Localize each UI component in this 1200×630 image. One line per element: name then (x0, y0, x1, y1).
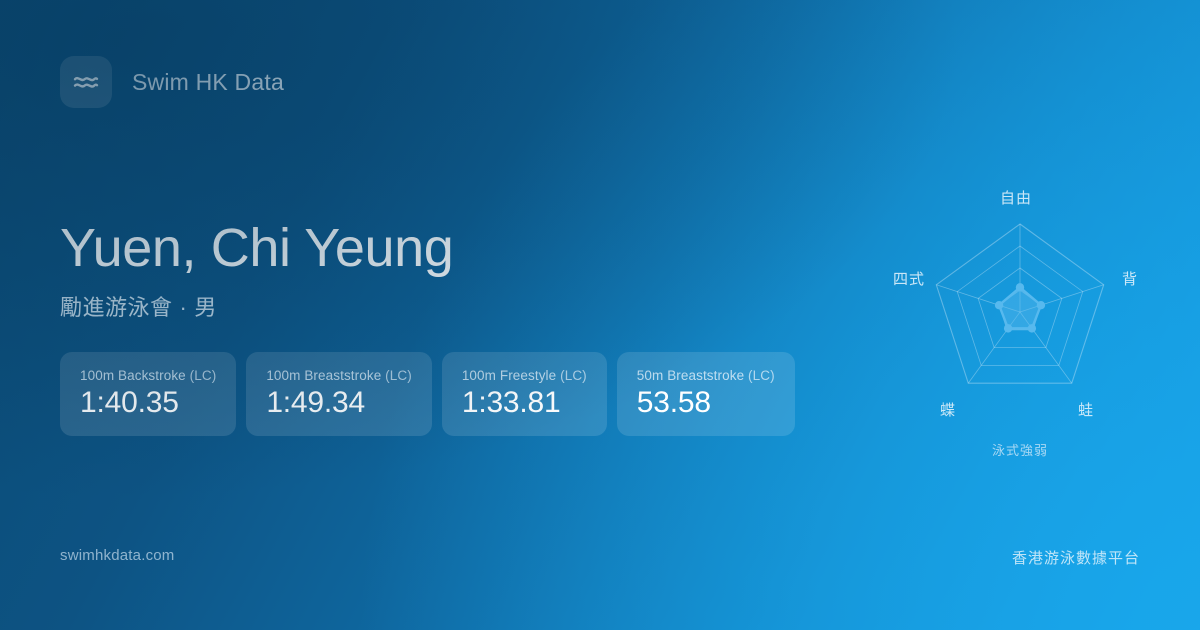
stat-card[interactable]: 100m Freestyle (LC) 1:33.81 (442, 352, 607, 436)
stat-course: (LC) (190, 368, 217, 383)
athlete-club: 勵進游泳會 (60, 295, 173, 320)
athlete-hero: Yuen, Chi Yeung 勵進游泳會·男 (60, 218, 453, 322)
athlete-meta: 勵進游泳會·男 (60, 290, 453, 322)
stat-label: 100m Breaststroke (LC) (266, 368, 412, 383)
stat-course: (LC) (748, 368, 775, 383)
stat-time: 1:40.35 (80, 387, 216, 419)
stat-event: 100m Breaststroke (266, 368, 381, 383)
stat-label: 100m Backstroke (LC) (80, 368, 216, 383)
radar-axis-label-fly: 蝶 (940, 399, 956, 420)
stat-course: (LC) (560, 368, 587, 383)
stat-label: 50m Breaststroke (LC) (637, 368, 775, 383)
radar-axis-label-back: 背 (1122, 268, 1138, 289)
stat-time: 53.58 (637, 387, 775, 419)
stat-course: (LC) (385, 368, 412, 383)
stat-event: 50m Breaststroke (637, 368, 744, 383)
meta-separator: · (173, 295, 195, 320)
stat-event: 100m Freestyle (462, 368, 556, 383)
radar-chart-caption: 泳式強弱 (860, 440, 1180, 459)
stat-card[interactable]: 50m Breaststroke (LC) 53.58 (617, 352, 795, 436)
stat-card-list: 100m Backstroke (LC) 1:40.35 100m Breast… (60, 352, 795, 436)
poster-canvas: Swim HK Data Yuen, Chi Yeung 勵進游泳會·男 100… (0, 0, 1200, 630)
footer-tagline: 香港游泳數據平台 (1012, 547, 1140, 568)
footer-site-url[interactable]: swimhkdata.com (60, 547, 175, 564)
stat-event: 100m Backstroke (80, 368, 186, 383)
stat-label: 100m Freestyle (LC) (462, 368, 587, 383)
stat-card[interactable]: 100m Breaststroke (LC) 1:49.34 (246, 352, 432, 436)
stroke-strength-radar-chart: 自由 背 蛙 蝶 四式 泳式強弱 (860, 165, 1180, 475)
page-title: Yuen, Chi Yeung (60, 218, 453, 278)
radar-axis-label-free: 自由 (1000, 187, 1032, 208)
stat-time: 1:33.81 (462, 387, 587, 419)
brand-header[interactable]: Swim HK Data (60, 56, 284, 108)
wave-icon (60, 56, 112, 108)
brand-name: Swim HK Data (132, 69, 284, 96)
stat-card[interactable]: 100m Backstroke (LC) 1:40.35 (60, 352, 236, 436)
radar-axis-label-im: 四式 (893, 268, 925, 289)
stat-time: 1:49.34 (266, 387, 412, 419)
radar-plot (860, 165, 1180, 475)
athlete-gender: 男 (194, 295, 217, 320)
radar-axis-label-breast: 蛙 (1078, 399, 1094, 420)
